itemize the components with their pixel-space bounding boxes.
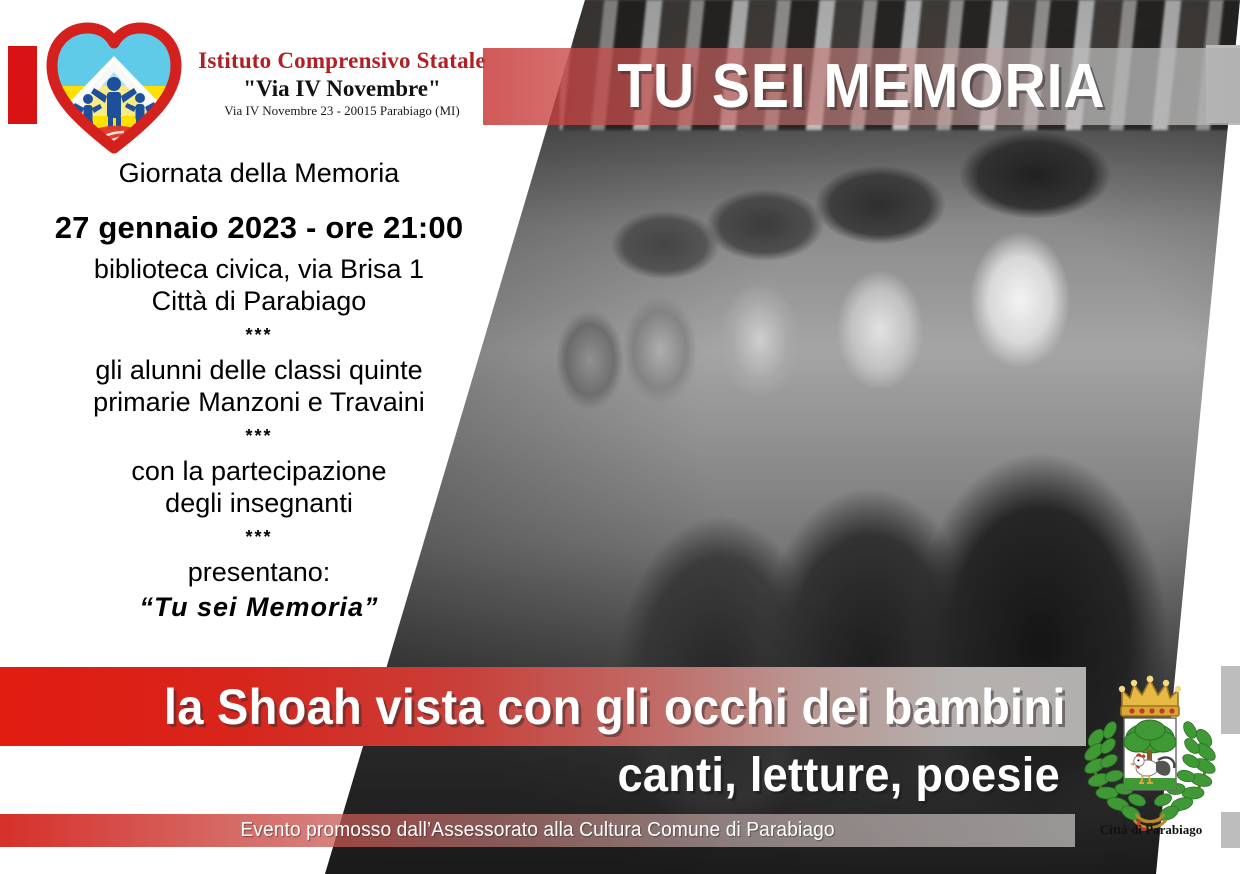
separator-3: *** [20,527,498,548]
poster-main-title: TU SEI MEMORIA [617,51,1105,122]
event-venue: biblioteca civica, via Brisa 1 [20,254,498,286]
participation-line-2: degli insegnanti [20,488,498,520]
event-datetime: 27 gennaio 2023 - ore 21:00 [20,210,498,247]
header-banner: TU SEI MEMORIA [483,48,1240,125]
performers-line-1: gli alunni delle classi quinte [20,355,498,387]
parabiago-coat-of-arms-icon [1084,668,1216,840]
separator-1: *** [20,325,498,346]
separator-2: *** [20,426,498,447]
presentano-label: presentano: [20,557,498,589]
event-details-column: Giornata della Memoria 27 gennaio 2023 -… [20,158,498,624]
footer-banner: Evento promosso dall’Assessorato alla Cu… [0,814,1075,847]
institute-title-block: Istituto Comprensivo Statale "Via IV Nov… [196,48,488,118]
event-name: Giornata della Memoria [20,158,498,190]
work-title: “Tu sei Memoria” [20,592,498,624]
decorative-grey-block-right-middle [1221,666,1240,734]
city-crest-caption: Città di Parabiago [1078,822,1224,838]
institute-name: Istituto Comprensivo Statale [196,48,488,74]
subtitle-headline: canti, letture, poesie [590,748,1060,803]
performers-line-2: primarie Manzoni e Travaini [20,387,498,419]
poster-canvas: Istituto Comprensivo Statale "Via IV Nov… [0,0,1240,874]
event-city: Città di Parabiago [20,286,498,318]
footer-credit: Evento promosso dall’Assessorato alla Cu… [240,819,834,842]
main-banner-headline: la Shoah vista con gli occhi dei bambini [163,678,1086,736]
heart-school-logo-icon [38,12,190,160]
decorative-red-block-left [8,46,37,124]
institute-address: Via IV Novembre 23 - 20015 Parabiago (MI… [196,104,488,119]
institute-subname: "Via IV Novembre" [196,76,488,102]
participation-line-1: con la partecipazione [20,456,498,488]
main-banner: la Shoah vista con gli occhi dei bambini [0,667,1086,746]
